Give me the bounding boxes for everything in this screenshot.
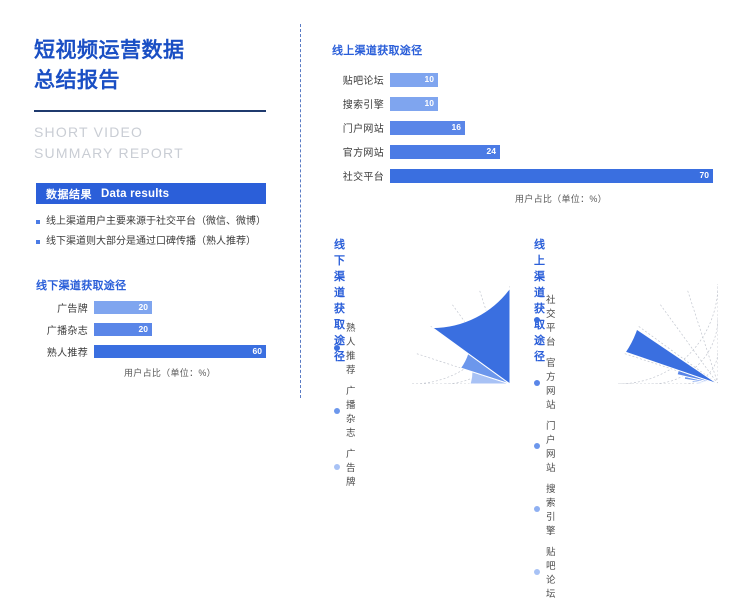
bar-row: 门户网站16 — [332, 120, 732, 135]
left-panel: 短视频运营数据 总结报告 SHORT VIDEO SUMMARY REPORT … — [0, 0, 300, 422]
bar-track: 70 — [390, 169, 713, 183]
bar-fill: 10 — [390, 97, 438, 111]
bar-track: 60 — [94, 345, 266, 358]
legend-color-dot — [534, 317, 540, 323]
bar-row: 搜索引擎10 — [332, 96, 732, 111]
legend-item: 官方网站 — [534, 355, 556, 411]
legend-color-dot — [334, 464, 340, 470]
rose-sector — [625, 329, 718, 384]
legend-label: 广告牌 — [346, 446, 356, 488]
bar-category-label: 广告牌 — [28, 300, 88, 315]
bar-track: 20 — [94, 301, 152, 314]
legend-label: 门户网站 — [546, 418, 556, 474]
bar-row: 社交平台70 — [332, 168, 732, 183]
legend-color-dot — [334, 408, 340, 414]
bar-category-label: 搜索引擎 — [332, 96, 384, 111]
bar-row: 广播杂志20 — [28, 322, 278, 337]
bullet-text: 线上渠道用户主要来源于社交平台（微信、微博） — [46, 215, 266, 229]
legend-item: 广播杂志 — [334, 383, 356, 439]
legend-label: 广播杂志 — [346, 383, 356, 439]
rose-plot-area-online — [598, 264, 718, 389]
bar-value-label: 60 — [253, 347, 262, 356]
rose-plot-area-offline — [390, 264, 510, 389]
legend-color-dot — [534, 569, 540, 575]
page-title: 短视频运营数据 总结报告 — [34, 36, 274, 96]
legend-item: 搜索引擎 — [534, 481, 556, 537]
bar-axis-caption: 用户占比（单位：%） — [62, 366, 278, 379]
legend-item: 贴吧论坛 — [534, 544, 556, 600]
bar-fill: 70 — [390, 169, 713, 183]
online-channel-bar-chart: 贴吧论坛10搜索引擎10门户网站16官方网站24社交平台70用户占比（单位：%） — [332, 72, 732, 205]
legend-color-dot — [534, 380, 540, 386]
list-item: 线下渠道则大部分是通过口碑传播（熟人推荐） — [36, 235, 294, 249]
bar-row: 官方网站24 — [332, 144, 732, 159]
bar-row: 贴吧论坛10 — [332, 72, 732, 87]
legend-color-dot — [534, 506, 540, 512]
bar-value-label: 10 — [425, 99, 434, 108]
title-divider-rule — [34, 110, 266, 112]
legend-item: 社交平台 — [534, 292, 556, 348]
bar-fill: 20 — [94, 301, 152, 314]
bar-category-label: 社交平台 — [332, 168, 384, 183]
legend-label: 官方网站 — [546, 355, 556, 411]
bar-value-label: 70 — [700, 171, 709, 180]
legend-item: 熟人推荐 — [334, 320, 356, 376]
legend-item: 广告牌 — [334, 446, 356, 488]
list-item: 线上渠道用户主要来源于社交平台（微信、微博） — [36, 215, 294, 229]
bar-fill: 24 — [390, 145, 500, 159]
legend-label: 熟人推荐 — [346, 320, 356, 376]
square-bullet-icon — [36, 220, 40, 224]
bar-row: 熟人推荐60 — [28, 344, 278, 359]
bar-fill: 20 — [94, 323, 152, 336]
banner-label-cn: 数据结果 — [46, 186, 92, 202]
bar-track: 10 — [390, 97, 438, 111]
bar-category-label: 贴吧论坛 — [332, 72, 384, 87]
slide-canvas: 短视频运营数据 总结报告 SHORT VIDEO SUMMARY REPORT … — [0, 0, 750, 422]
bar-value-label: 24 — [487, 147, 496, 156]
bar-value-label: 16 — [452, 123, 461, 132]
bar-track: 16 — [390, 121, 465, 135]
bar-value-label: 20 — [139, 303, 148, 312]
bar-track: 20 — [94, 323, 152, 336]
bar-row: 广告牌20 — [28, 300, 278, 315]
rose-chart-svg — [598, 264, 718, 384]
bar-track: 10 — [390, 73, 438, 87]
vertical-dashed-divider — [300, 24, 301, 398]
banner-label-en: Data results — [101, 188, 169, 200]
bar-fill: 60 — [94, 345, 266, 358]
grid-arc — [618, 284, 718, 384]
chart-title-offline-bar: 线下渠道获取途径 — [36, 277, 126, 293]
legend-item: 门户网站 — [534, 418, 556, 474]
bar-category-label: 门户网站 — [332, 120, 384, 135]
bar-track: 24 — [390, 145, 500, 159]
summary-bullet-list: 线上渠道用户主要来源于社交平台（微信、微博） 线下渠道则大部分是通过口碑传播（熟… — [36, 215, 294, 254]
legend-label: 社交平台 — [546, 292, 556, 348]
bar-category-label: 官方网站 — [332, 144, 384, 159]
legend-color-dot — [334, 345, 340, 351]
legend-label: 搜索引擎 — [546, 481, 556, 537]
legend-offline-rose: 熟人推荐广播杂志广告牌 — [334, 320, 356, 495]
legend-color-dot — [534, 443, 540, 449]
offline-channel-bar-chart: 广告牌20广播杂志20熟人推荐60用户占比（单位：%） — [28, 300, 278, 379]
bar-value-label: 20 — [139, 325, 148, 334]
chart-title-online-bar: 线上渠道获取途径 — [332, 42, 422, 58]
bullet-text: 线下渠道则大部分是通过口碑传播（熟人推荐） — [46, 235, 256, 249]
rose-chart-svg — [390, 264, 510, 384]
page-subtitle-english: SHORT VIDEO SUMMARY REPORT — [34, 122, 284, 164]
legend-online-rose: 社交平台官方网站门户网站搜索引擎贴吧论坛 — [534, 292, 556, 607]
bar-value-label: 10 — [425, 75, 434, 84]
bar-fill: 16 — [390, 121, 465, 135]
bar-axis-caption: 用户占比（单位：%） — [390, 192, 732, 205]
bar-fill: 10 — [390, 73, 438, 87]
square-bullet-icon — [36, 240, 40, 244]
legend-label: 贴吧论坛 — [546, 544, 556, 600]
bar-category-label: 广播杂志 — [28, 322, 88, 337]
bar-category-label: 熟人推荐 — [28, 344, 88, 359]
data-results-banner: 数据结果 Data results — [36, 183, 266, 204]
